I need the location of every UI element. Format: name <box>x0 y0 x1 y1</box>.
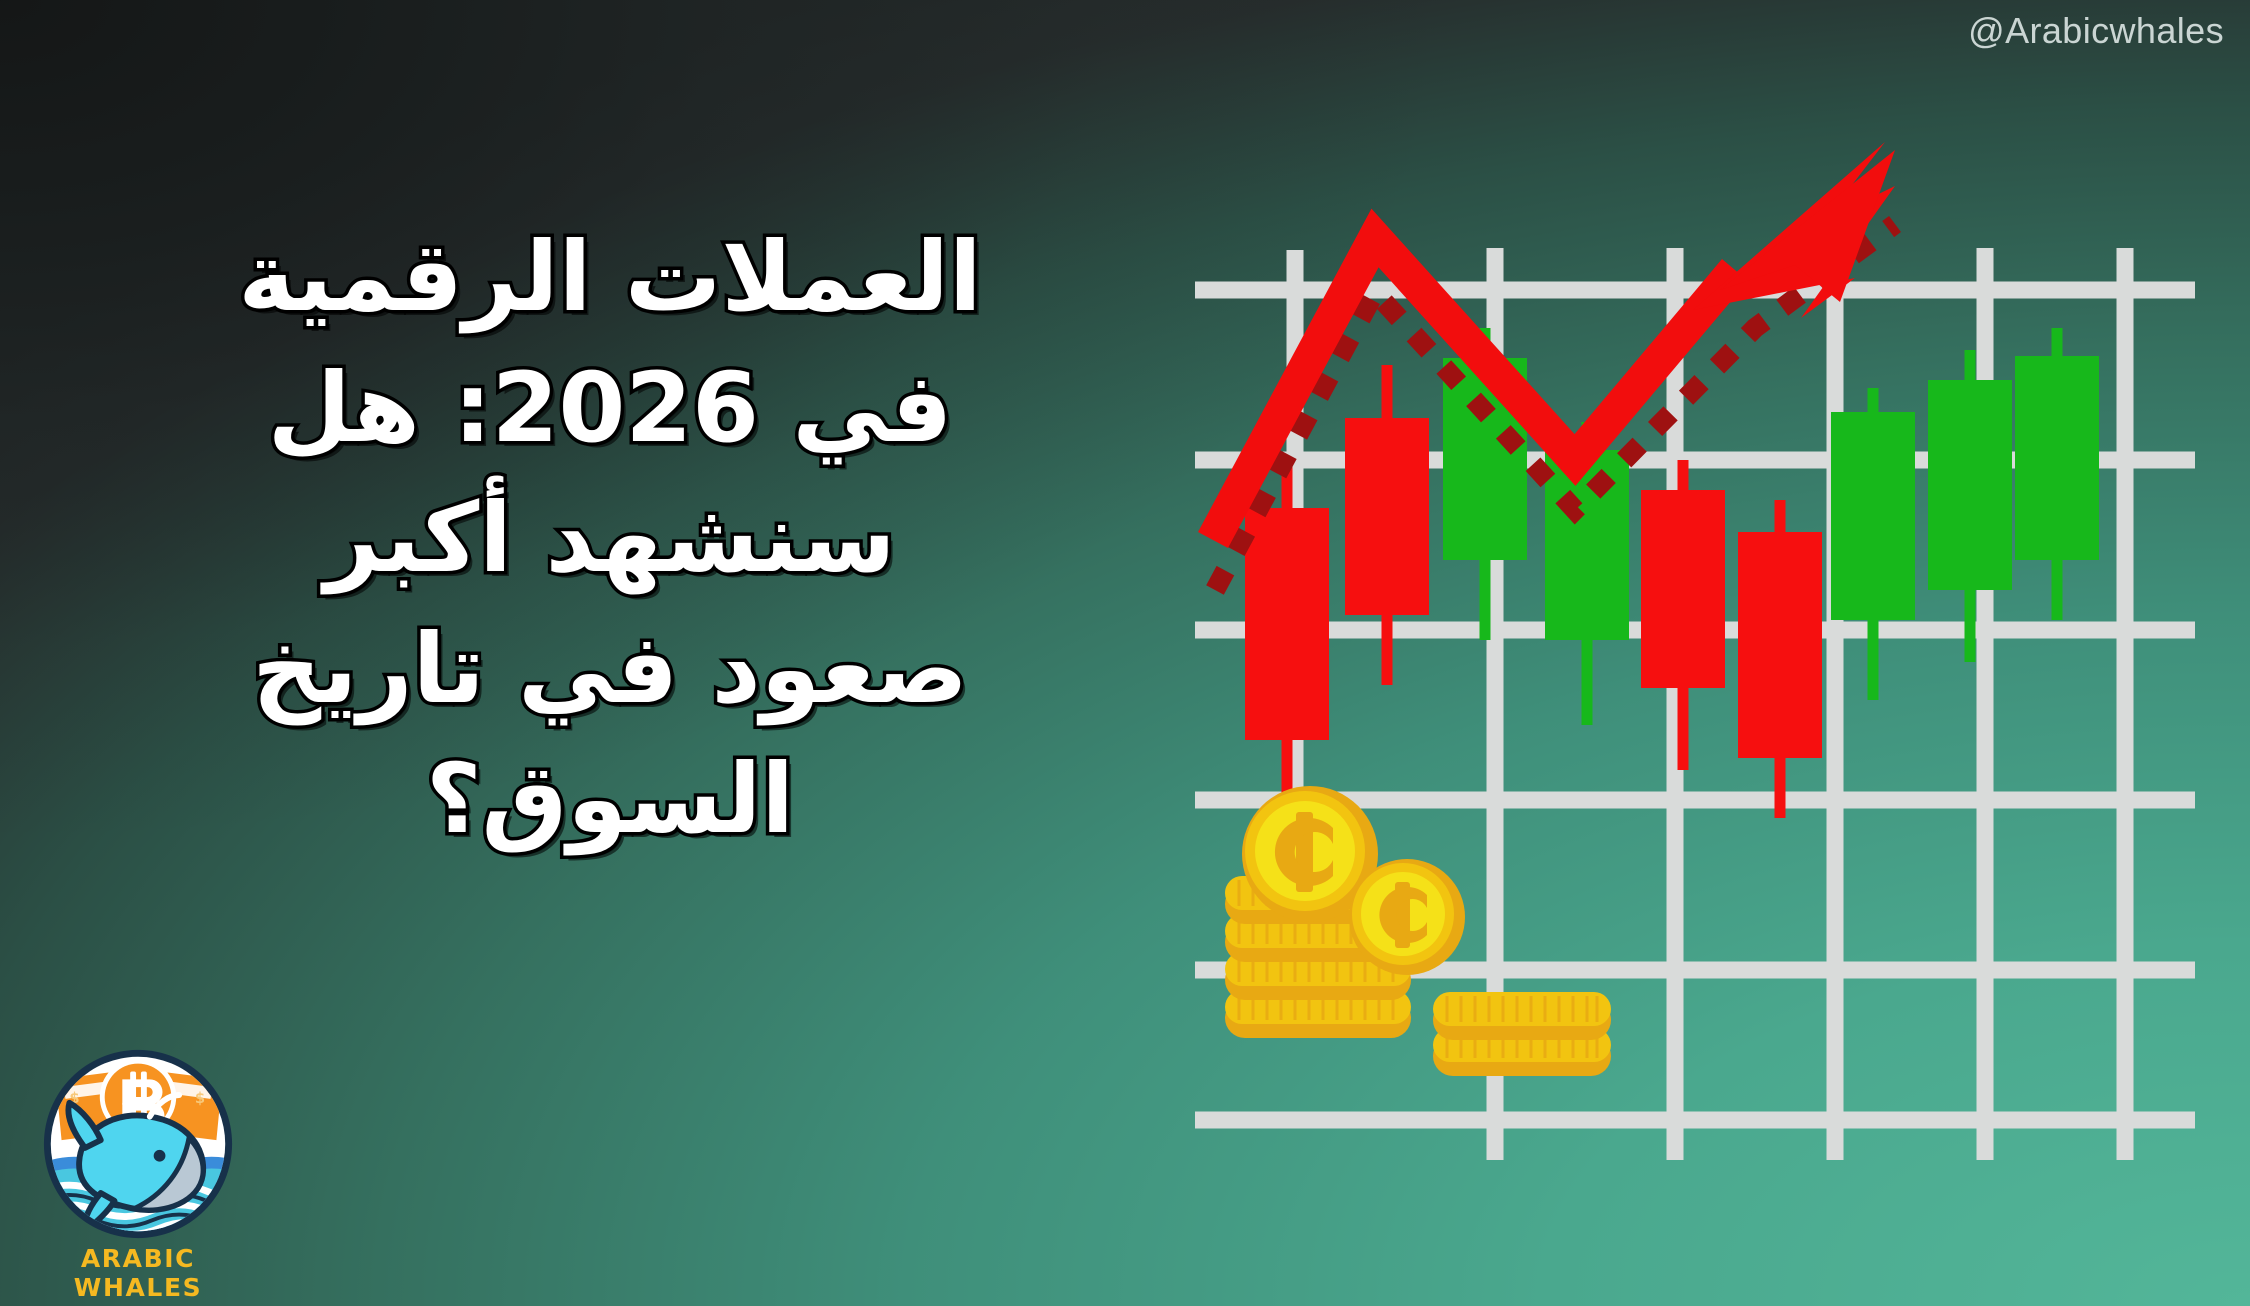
candle-body <box>1641 490 1725 688</box>
candle-9-bull <box>2015 328 2099 620</box>
coin-standing-medium <box>1349 859 1465 975</box>
candlestick-chart-illustration <box>1195 160 2195 1170</box>
candle-8-bull <box>1928 350 2012 662</box>
coin-stack-short <box>1433 992 1611 1076</box>
headline-line-1: العملات الرقمية <box>170 212 1050 343</box>
headline-line-5: السوق؟ <box>170 734 1050 865</box>
brand-logo: $ $ <box>18 1046 258 1302</box>
candle-body <box>1831 412 1915 620</box>
brand-wordmark: ARABIC WHALES <box>18 1244 258 1302</box>
candle-6-bear <box>1738 500 1822 818</box>
candle-5-bear <box>1641 460 1725 770</box>
headline-line-4: صعود في تاريخ <box>170 604 1050 735</box>
page-title: العملات الرقمية في 2026: هل سنشهد أكبر ص… <box>170 212 1050 865</box>
thumbnail-canvas: @Arabicwhales العملات الرقمية في 2026: ه… <box>0 0 2250 1306</box>
chart-svg <box>1195 160 2195 1170</box>
headline-line-3: سنشهد أكبر <box>170 473 1050 604</box>
dollar-glyph-right: $ <box>195 1090 205 1107</box>
candle-body <box>1545 450 1629 640</box>
candle-body <box>1245 508 1329 740</box>
candle-body <box>1345 418 1429 615</box>
headline-line-2: في 2026: هل <box>170 343 1050 474</box>
arabic-whales-badge-icon: $ $ <box>40 1046 236 1242</box>
candle-body <box>2015 356 2099 560</box>
social-handle: @Arabicwhales <box>1968 10 2224 52</box>
candle-7-bull <box>1831 388 1915 700</box>
candle-body <box>1738 532 1822 758</box>
coin-cluster <box>1225 786 1611 1076</box>
whale-eye <box>154 1150 166 1162</box>
candle-body <box>1928 380 2012 590</box>
